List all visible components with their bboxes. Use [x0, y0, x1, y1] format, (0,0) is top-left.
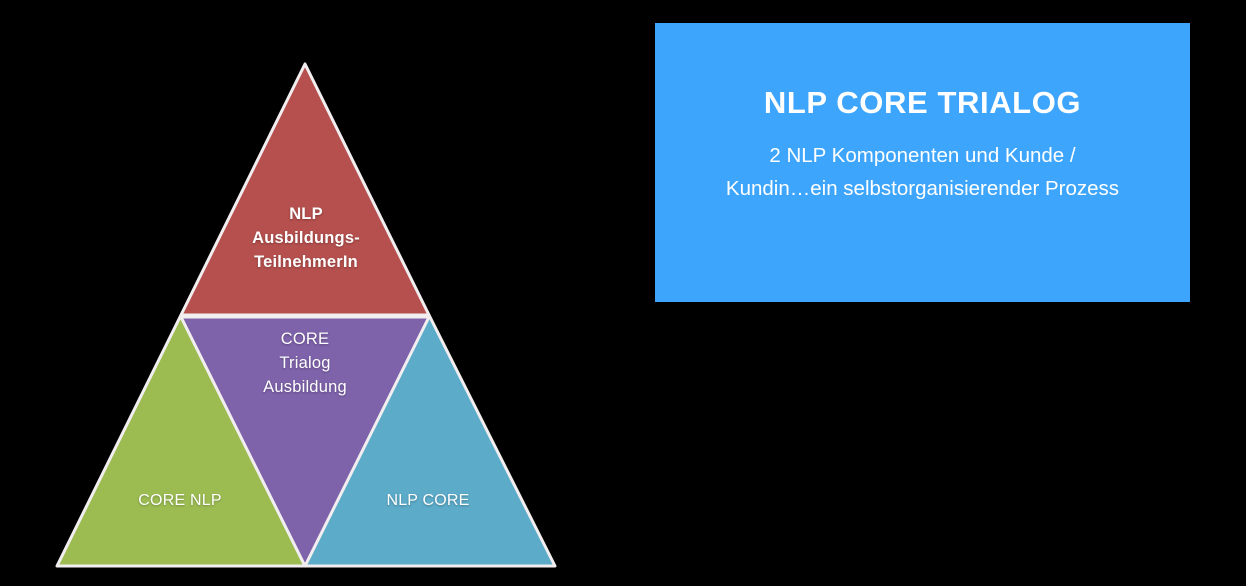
panel-subtitle: 2 NLP Komponenten und Kunde / Kundin…ein…	[726, 139, 1119, 205]
slide-canvas: NLP Ausbildungs- TeilnehmerIn CORE Trial…	[0, 0, 1246, 586]
panel-subtitle-line-2: Kundin…ein selbstorganisierender Prozess	[726, 172, 1119, 205]
panel-title: NLP CORE TRIALOG	[764, 85, 1081, 121]
triangle-diagram: NLP Ausbildungs- TeilnehmerIn CORE Trial…	[0, 0, 620, 586]
panel-subtitle-line-1: 2 NLP Komponenten und Kunde /	[726, 139, 1119, 172]
triangle-segment-top[interactable]	[181, 64, 429, 315]
info-panel: NLP CORE TRIALOG 2 NLP Komponenten und K…	[655, 23, 1190, 302]
triangle-graphic	[0, 0, 620, 586]
